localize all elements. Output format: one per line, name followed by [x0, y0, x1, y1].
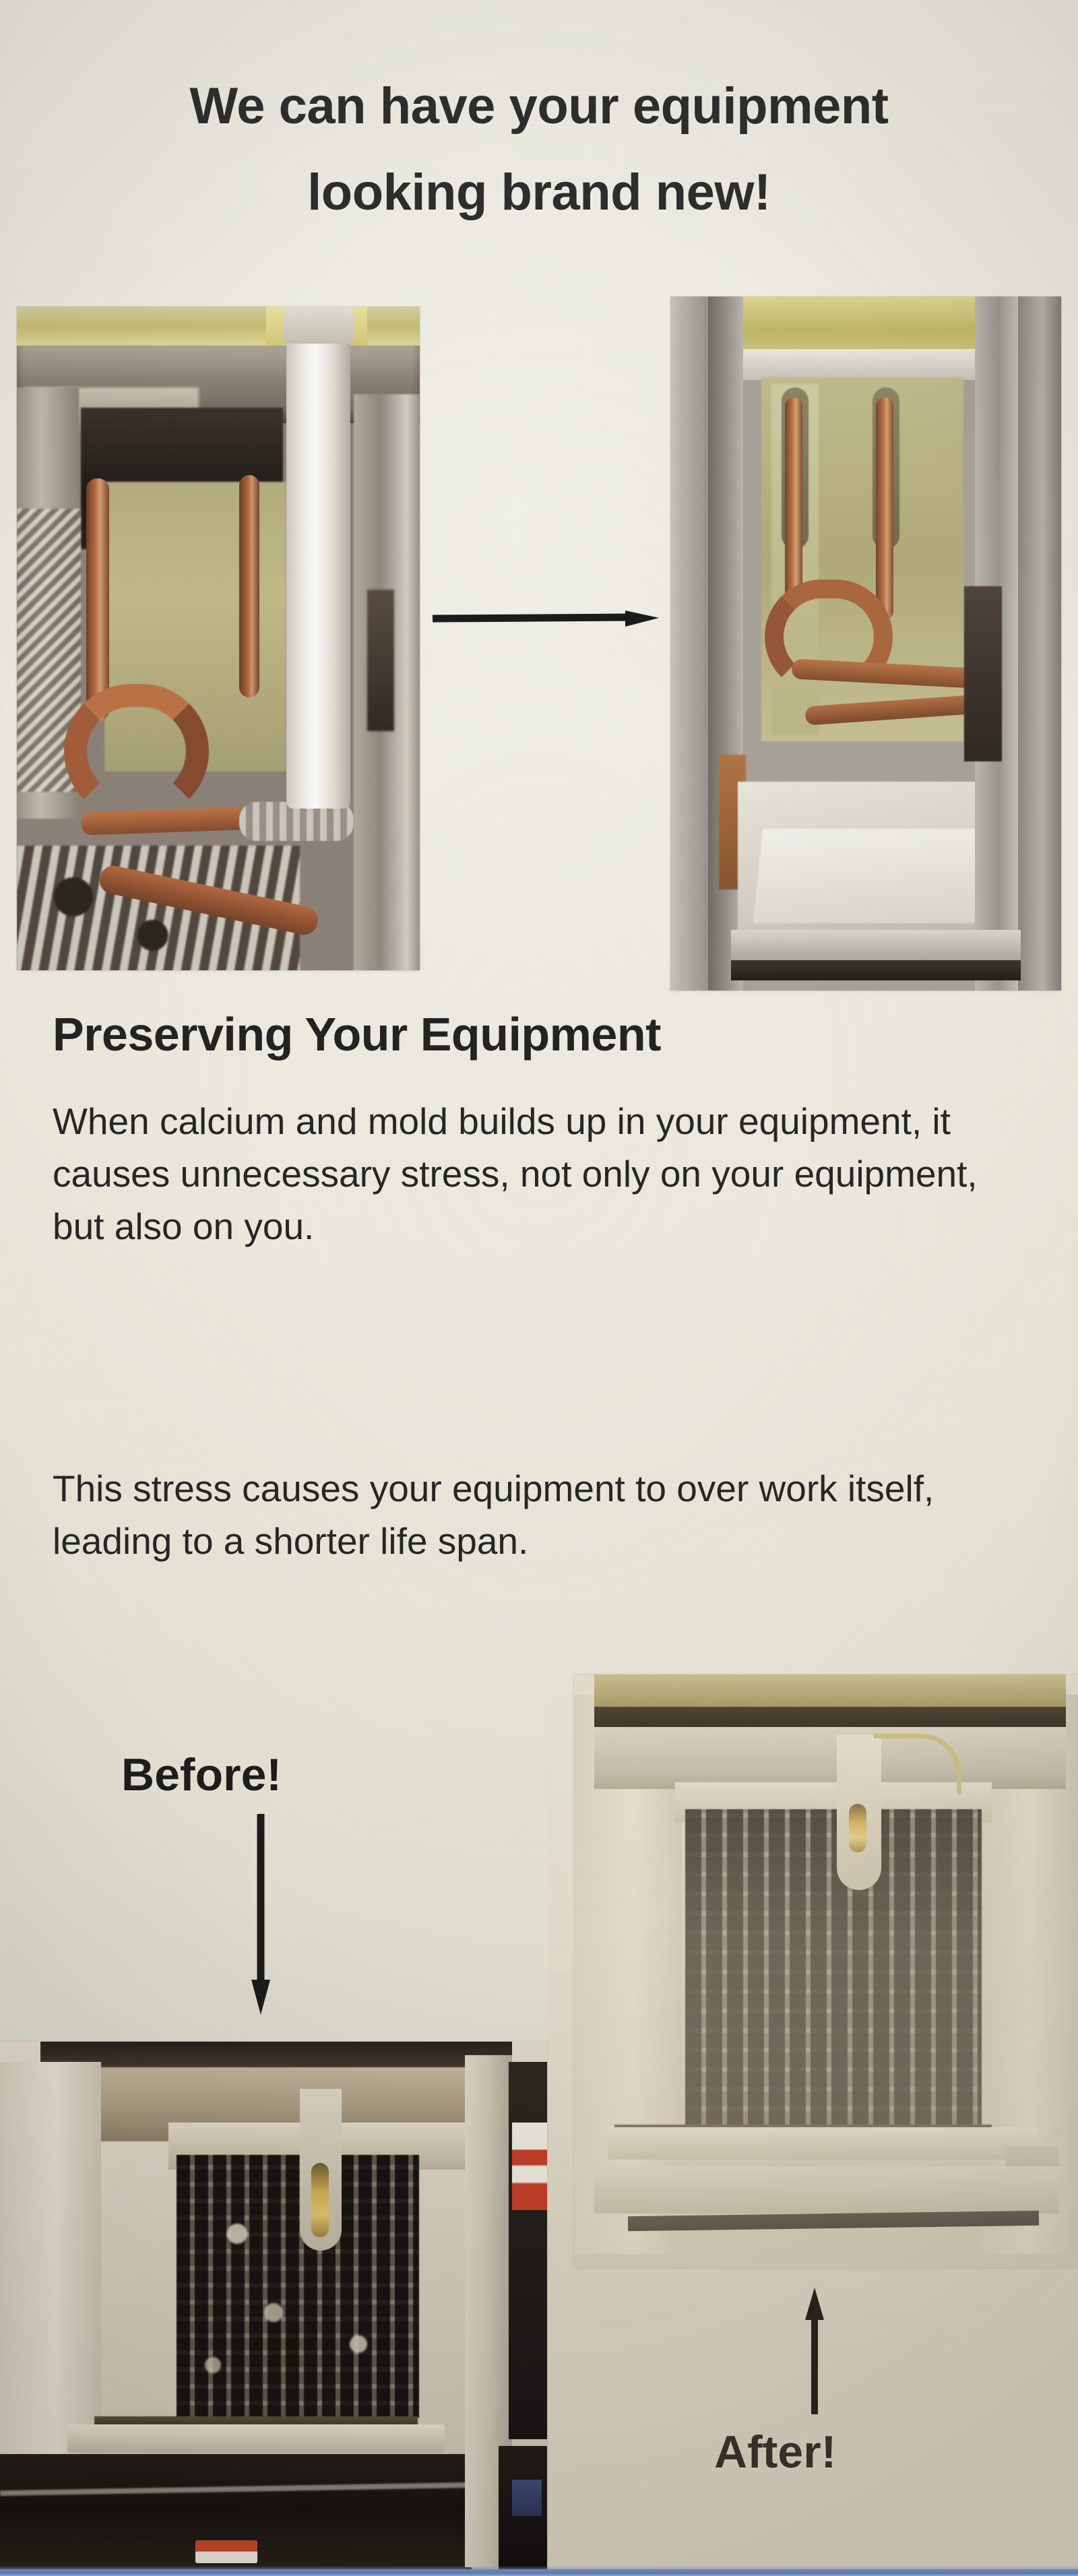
up-arrow-icon [803, 2288, 826, 2416]
photo-detail-lower-rail [67, 2424, 445, 2453]
photo-detail-clean-floor-highlight [753, 829, 986, 923]
photo-detail-control-screen [512, 2480, 542, 2516]
photo-detail-copper-tube-1 [86, 478, 109, 721]
bottom-before-photo [0, 2042, 547, 2576]
down-arrow-icon [249, 1813, 272, 2015]
photo-detail-base-rail [731, 930, 1021, 964]
photo-detail-lower-bar [594, 2166, 1059, 2213]
photo-detail-copper-tube-2 [239, 475, 259, 697]
right-arrow-icon [431, 610, 659, 627]
brochure-page: We can have your equipment looking brand… [0, 0, 1078, 2576]
body-paragraph-2: This stress causes your equipment to ove… [53, 1462, 1036, 1567]
photo-detail-copper-u-bend [64, 684, 209, 819]
before-label: Before! [121, 1749, 282, 1801]
photo-detail-clean-copper-1 [785, 398, 802, 600]
top-after-photo [670, 296, 1061, 991]
bottom-after-photo [574, 1674, 1078, 2267]
photo-detail-right-panel-edge [1018, 296, 1061, 991]
bottom-accent-band [0, 2569, 1078, 2576]
photo-detail-top-shelf [594, 1727, 1066, 1789]
photo-detail-red-label [195, 2540, 257, 2563]
photo-detail-clean-copper-2 [876, 398, 893, 620]
photo-detail-clean-condenser-coil [685, 1809, 982, 2126]
photo-detail-right-bracket [964, 586, 1002, 761]
section-heading: Preserving Your Equipment [53, 1007, 1036, 1061]
photo-detail-base-shadow [731, 960, 1021, 980]
after-label: After! [714, 2426, 836, 2478]
photo-detail-coil-calcium-deposits [177, 2155, 419, 2418]
page-header: We can have your equipment looking brand… [0, 81, 1078, 218]
body-paragraph-1: When calcium and mold builds up in your … [53, 1095, 1036, 1253]
header-line-1: We can have your equipment [0, 81, 1078, 132]
photo-detail-right-dark-panel [509, 2062, 547, 2439]
photo-detail-white-pvc-pipe [286, 310, 350, 809]
top-before-photo [17, 307, 420, 970]
photo-detail-lower-rail [608, 2127, 1039, 2160]
photo-detail-sensor-bulb [849, 1804, 866, 1852]
header-line-2: looking brand new! [0, 167, 1078, 218]
photo-detail-right-shadow [367, 590, 394, 731]
photo-detail-pvc-cap [283, 307, 354, 344]
photo-detail-top-bar [743, 349, 1006, 380]
photo-detail-warning-sticker [512, 2123, 547, 2210]
photo-detail-sensor-bulb [311, 2163, 329, 2237]
